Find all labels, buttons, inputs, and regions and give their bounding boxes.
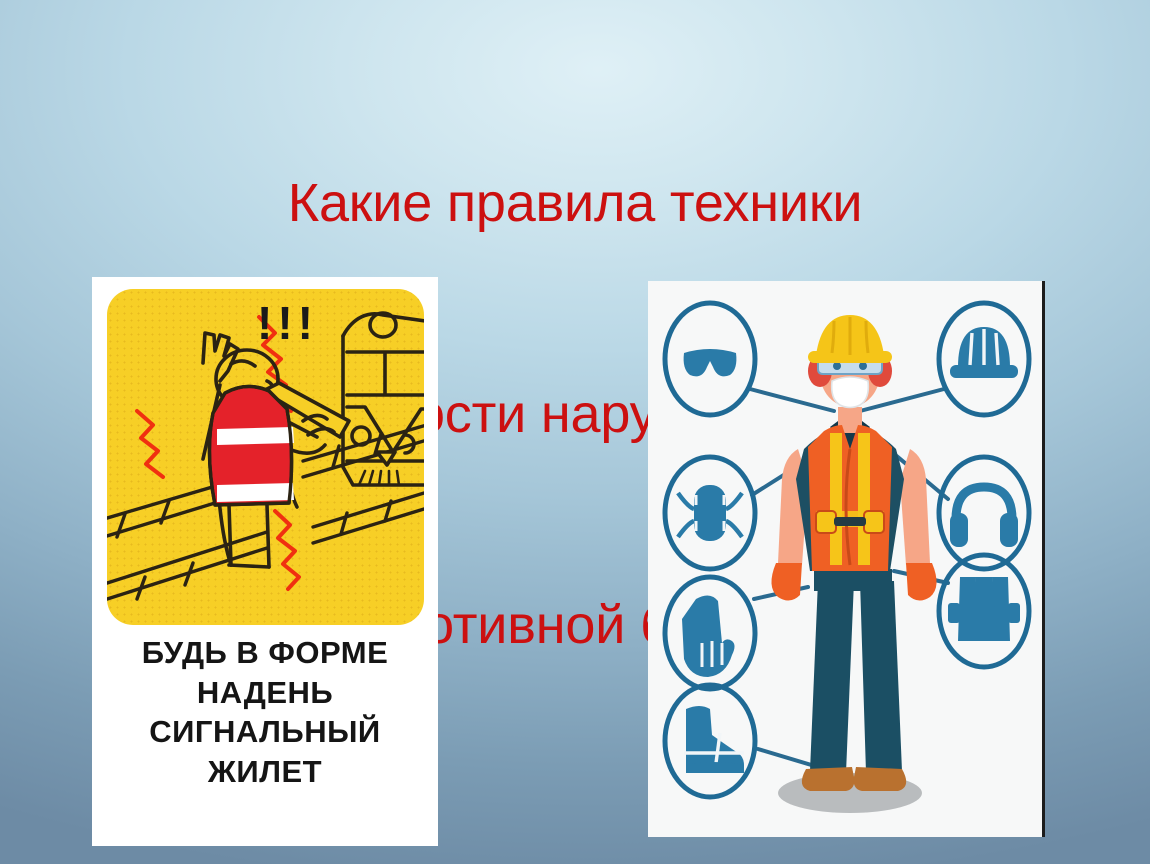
signal-vest bbox=[209, 386, 294, 505]
belt-strap bbox=[834, 517, 866, 526]
right-glove bbox=[906, 563, 937, 601]
caption-line-4: ЖИЛЕТ bbox=[92, 752, 438, 792]
ppe-diagram-svg bbox=[648, 281, 1042, 837]
hard-hat-icon[interactable] bbox=[939, 303, 1029, 415]
left-boot bbox=[802, 767, 855, 791]
respirator-mask-icon[interactable] bbox=[665, 457, 755, 569]
right-boot bbox=[854, 767, 906, 791]
locomotive-illustration bbox=[343, 313, 424, 485]
ear-protection-icon[interactable] bbox=[939, 457, 1029, 569]
belt-buckle-left bbox=[816, 511, 836, 533]
connector-glasses bbox=[750, 389, 834, 411]
safety-harness-icon[interactable] bbox=[939, 555, 1029, 667]
safety-glove-icon[interactable] bbox=[665, 577, 755, 689]
caption-line-2: НАДЕНЬ bbox=[92, 673, 438, 713]
title-line-1: Какие правила техники bbox=[0, 168, 1150, 238]
hips bbox=[814, 569, 892, 591]
left-glove bbox=[771, 563, 802, 601]
vest-stripe-right bbox=[858, 433, 870, 565]
left-eye bbox=[833, 362, 841, 370]
presentation-slide: Какие правила техники безопасности наруш… bbox=[0, 0, 1150, 864]
signal-vest-safety-poster: !!! БУДЬ В ФОРМЕ НАДЕНЬ СИГНАЛЬНЫЙ ЖИЛЕТ bbox=[92, 277, 438, 846]
connector-boot bbox=[758, 749, 818, 767]
poster-scene-svg: !!! bbox=[107, 289, 424, 625]
dust-mask bbox=[832, 377, 869, 408]
right-arm bbox=[900, 449, 930, 565]
right-leg bbox=[860, 581, 902, 773]
worker-figure bbox=[203, 333, 349, 567]
vest-stripe-left bbox=[830, 433, 842, 565]
right-eye bbox=[859, 362, 867, 370]
safety-boot-icon[interactable] bbox=[665, 685, 755, 797]
poster-illustration: !!! bbox=[107, 289, 424, 625]
exclamation-marks: !!! bbox=[257, 297, 318, 349]
worker-figure bbox=[771, 315, 936, 813]
ppe-equipment-diagram bbox=[648, 281, 1045, 837]
safety-glasses-icon[interactable] bbox=[665, 303, 755, 415]
worker-head bbox=[808, 315, 892, 408]
poster-caption: БУДЬ В ФОРМЕ НАДЕНЬ СИГНАЛЬНЫЙ ЖИЛЕТ bbox=[92, 633, 438, 792]
caption-line-1: БУДЬ В ФОРМЕ bbox=[92, 633, 438, 673]
belt-buckle-right bbox=[864, 511, 884, 533]
caption-line-3: СИГНАЛЬНЫЙ bbox=[92, 712, 438, 752]
left-leg bbox=[810, 581, 854, 773]
